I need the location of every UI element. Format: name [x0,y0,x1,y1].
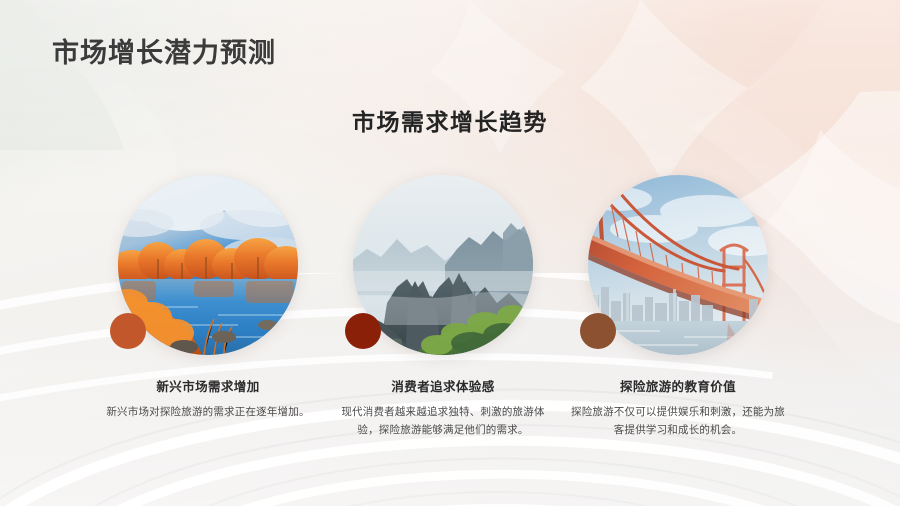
accent-dot [345,313,381,349]
card-description: 探险旅游不仅可以提供娱乐和刺激，还能为旅客提供学习和成长的机会。 [566,403,790,440]
card-image-wrap [353,175,533,355]
presentation-slide: 市场增长潜力预测 市场需求增长趋势 [0,0,900,506]
accent-dot [580,313,616,349]
card-description: 新兴市场对探险旅游的需求正在逐年增加。 [96,403,320,421]
card-description: 现代消费者越来越追求独特、刺激的旅游体验，探险旅游能够满足他们的需求。 [331,403,555,440]
card-image-wrap [588,175,768,355]
list-item[interactable]: 探险旅游的教育价值 探险旅游不仅可以提供娱乐和刺激，还能为旅客提供学习和成长的机… [528,175,828,440]
card-title: 探险旅游的教育价值 [528,376,828,395]
accent-dot [110,313,146,349]
card-list: 新兴市场需求增加 新兴市场对探险旅游的需求正在逐年增加。 [0,0,900,506]
card-image-wrap [118,175,298,355]
